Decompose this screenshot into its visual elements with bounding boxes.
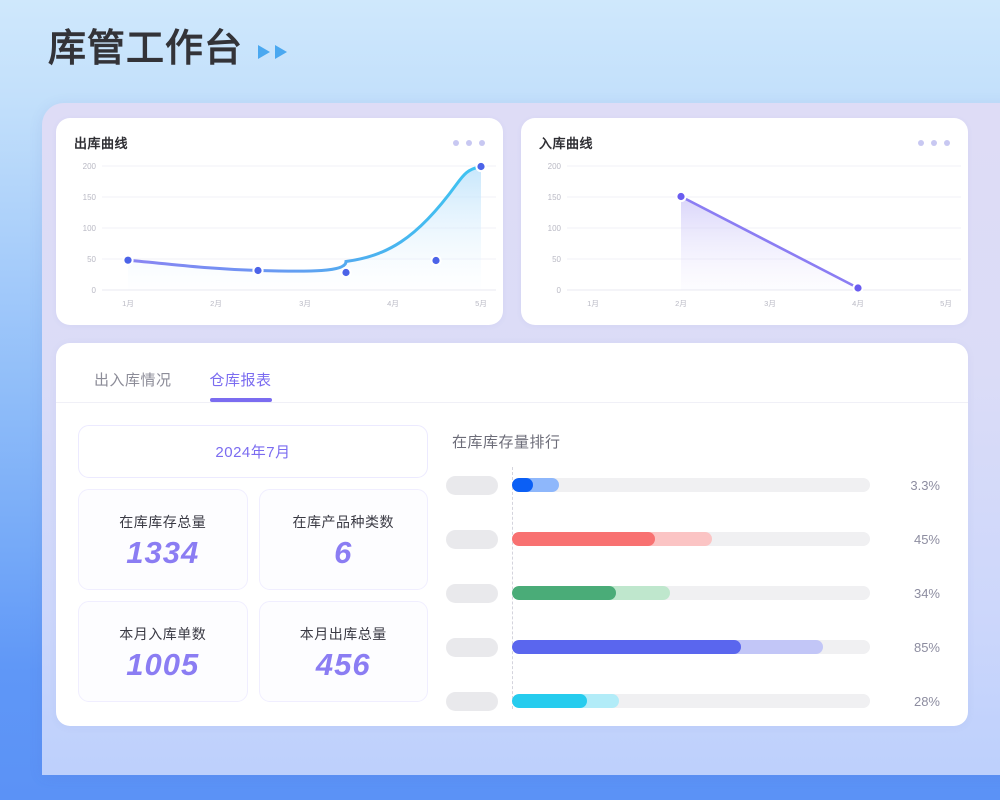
stat-card-total-stock[interactable]: 在库库存总量 1334 <box>78 489 248 590</box>
outbound-chart-title: 出库曲线 <box>74 133 128 152</box>
ranking-row[interactable]: 28% <box>446 687 940 715</box>
svg-text:5月: 5月 <box>475 299 487 308</box>
svg-text:1月: 1月 <box>122 299 134 308</box>
svg-text:5月: 5月 <box>940 299 952 308</box>
ranking-item-label-placeholder <box>446 638 498 657</box>
inbound-chart-header: 入库曲线 <box>539 133 950 152</box>
ranking-row[interactable]: 34% <box>446 579 940 607</box>
ranking-bar-primary <box>512 478 533 492</box>
ranking-row[interactable]: 85% <box>446 633 940 661</box>
stat-grid: 在库库存总量 1334 在库产品种类数 6 本月入库单数 1005 本月出库总量… <box>78 489 428 702</box>
svg-text:0: 0 <box>557 286 562 295</box>
ranking-bar-track <box>512 586 870 600</box>
ranking-bar-primary <box>512 640 741 654</box>
ranking-percent-label: 28% <box>884 694 940 709</box>
svg-text:100: 100 <box>548 224 562 233</box>
stat-value: 1005 <box>126 649 199 680</box>
svg-text:2月: 2月 <box>675 299 687 308</box>
more-dots-icon[interactable] <box>918 140 950 146</box>
ranking-percent-label: 3.3% <box>884 478 940 493</box>
ranking-column: 在库库存量排行 3.3%45%34%85%28% <box>428 425 968 715</box>
stat-label: 本月出库总量 <box>300 624 387 644</box>
ranking-bar-track <box>512 478 870 492</box>
ranking-percent-label: 45% <box>884 532 940 547</box>
svg-text:3月: 3月 <box>764 299 776 308</box>
svg-text:150: 150 <box>83 193 97 202</box>
tab-inbound-outbound[interactable]: 出入库情况 <box>94 369 172 402</box>
ranking-row[interactable]: 45% <box>446 525 940 553</box>
ranking-item-label-placeholder <box>446 692 498 711</box>
ranking-list: 3.3%45%34%85%28% <box>446 471 940 715</box>
stat-label: 本月入库单数 <box>119 624 206 644</box>
svg-text:3月: 3月 <box>299 299 311 308</box>
charts-row: 出库曲线 <box>56 118 968 325</box>
svg-text:0: 0 <box>92 286 97 295</box>
report-tabs: 出入库情况 仓库报表 <box>56 343 968 403</box>
report-body: 2024年7月 在库库存总量 1334 在库产品种类数 6 本月入库单数 100… <box>56 403 968 715</box>
inbound-chart-title: 入库曲线 <box>539 133 593 152</box>
ranking-item-label-placeholder <box>446 476 498 495</box>
ranking-bar-primary <box>512 532 655 546</box>
svg-text:2月: 2月 <box>210 299 222 308</box>
svg-text:150: 150 <box>548 193 562 202</box>
page-title: 库管工作台 <box>48 30 243 68</box>
inbound-plot: 200 150 100 50 0 1月 2月 3月 4月 5月 <box>521 152 968 325</box>
ranking-item-label-placeholder <box>446 530 498 549</box>
ranking-bar-track <box>512 694 870 708</box>
svg-text:4月: 4月 <box>852 299 864 308</box>
ranking-bar-primary <box>512 586 616 600</box>
stat-value: 6 <box>334 537 352 568</box>
ranking-percent-label: 34% <box>884 586 940 601</box>
stat-card-inbound-orders[interactable]: 本月入库单数 1005 <box>78 601 248 702</box>
date-selector[interactable]: 2024年7月 <box>78 425 428 478</box>
svg-text:1月: 1月 <box>587 299 599 308</box>
ranking-bar-track <box>512 640 870 654</box>
svg-text:200: 200 <box>548 162 562 171</box>
ranking-title: 在库库存量排行 <box>452 431 940 452</box>
more-dots-icon[interactable] <box>453 140 485 146</box>
ranking-item-label-placeholder <box>446 584 498 603</box>
report-card: 出入库情况 仓库报表 2024年7月 在库库存总量 1334 在库产品种类数 6… <box>56 343 968 726</box>
outbound-chart-header: 出库曲线 <box>74 133 485 152</box>
stat-label: 在库库存总量 <box>119 512 206 532</box>
page-header: 库管工作台 <box>48 30 288 68</box>
ranking-bar-primary <box>512 694 587 708</box>
ranking-percent-label: 85% <box>884 640 940 655</box>
ranking-row[interactable]: 3.3% <box>446 471 940 499</box>
svg-text:100: 100 <box>83 224 97 233</box>
stats-column: 2024年7月 在库库存总量 1334 在库产品种类数 6 本月入库单数 100… <box>56 425 428 715</box>
svg-text:50: 50 <box>87 255 96 264</box>
tab-warehouse-report[interactable]: 仓库报表 <box>210 369 272 402</box>
stat-value: 456 <box>316 649 371 680</box>
stat-card-product-types[interactable]: 在库产品种类数 6 <box>259 489 429 590</box>
inbound-chart-card: 入库曲线 200 150 100 50 0 <box>521 118 968 325</box>
svg-text:50: 50 <box>552 255 561 264</box>
svg-text:4月: 4月 <box>387 299 399 308</box>
ranking-bar-track <box>512 532 870 546</box>
double-chevron-right-icon <box>257 43 288 61</box>
outbound-plot: 200 150 100 50 0 1月 2月 3月 4月 <box>56 152 503 325</box>
stat-value: 1334 <box>126 537 199 568</box>
stat-label: 在库产品种类数 <box>293 512 395 532</box>
stat-card-outbound-total[interactable]: 本月出库总量 456 <box>259 601 429 702</box>
outbound-chart-card: 出库曲线 <box>56 118 503 325</box>
svg-text:200: 200 <box>83 162 97 171</box>
